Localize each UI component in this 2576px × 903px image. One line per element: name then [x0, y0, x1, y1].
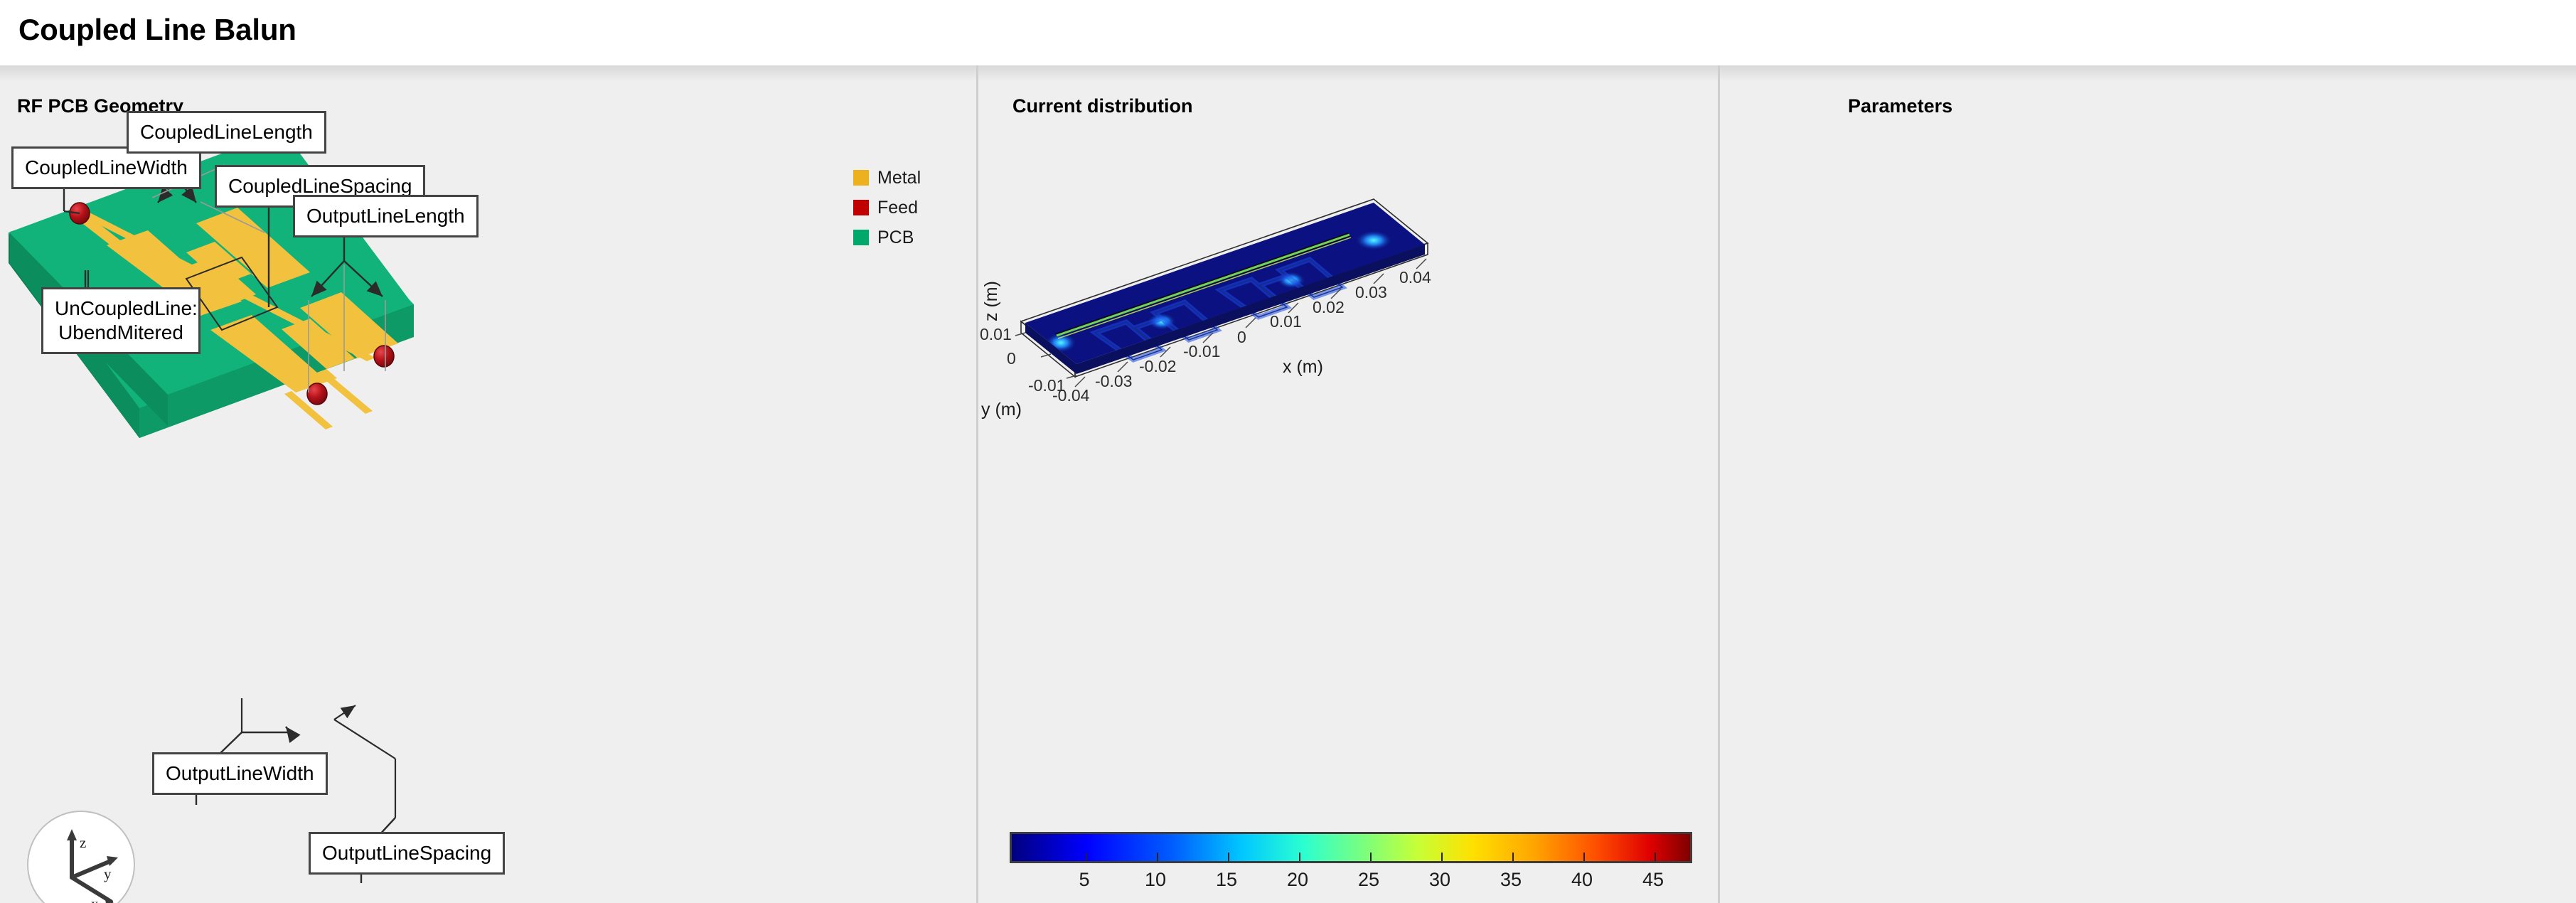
x-tick-0.04: 0.04	[1399, 268, 1431, 287]
callout-coupled-line-length[interactable]: CoupledLineLength	[127, 111, 326, 154]
cb-tick-45	[1655, 853, 1656, 861]
legend-label-metal: Metal	[877, 168, 921, 188]
pcb-swatch	[853, 230, 869, 245]
y-tick-0: 0	[1007, 349, 1016, 368]
panel-parameters: Parameters 0 -5 -10 -15 -20 -25 0.5 1 1.…	[1718, 65, 2576, 903]
cb-label-15: 15	[1216, 869, 1237, 891]
y-tick-0.01: 0.01	[980, 325, 1012, 343]
callout-output-line-spacing[interactable]: OutputLineSpacing	[309, 832, 505, 875]
x-tick--0.01: -0.01	[1183, 342, 1220, 360]
cb-label-25: 25	[1358, 869, 1379, 891]
callout-uncoupled-line[interactable]: UnCoupledLine: UbendMitered	[41, 287, 201, 354]
feed-swatch	[853, 200, 869, 215]
axis-triad-icon: z y x	[28, 812, 137, 903]
cb-tick-15	[1228, 853, 1229, 861]
panels-row: RF PCB Geometry	[0, 65, 2576, 903]
svg-text:x: x	[91, 895, 99, 903]
feed-port-3	[307, 383, 327, 405]
cb-label-20: 20	[1287, 869, 1308, 891]
current-distribution-3d-plot[interactable]: -0.04 -0.03 -0.02 -0.01 0 0.01 0.02 0.03…	[978, 108, 1720, 819]
cb-label-10: 10	[1145, 869, 1166, 891]
page-title: Coupled Line Balun	[18, 13, 296, 47]
feed-port-2	[374, 346, 394, 367]
cb-tick-25	[1370, 853, 1372, 861]
callout-output-line-width[interactable]: OutputLineWidth	[152, 752, 328, 795]
cb-tick-40	[1583, 853, 1585, 861]
cb-label-45: 45	[1642, 869, 1664, 891]
svg-text:y: y	[104, 865, 112, 882]
x-tick--0.02: -0.02	[1139, 357, 1176, 375]
title-bar: Coupled Line Balun	[0, 0, 2576, 65]
svg-text:z: z	[80, 834, 86, 851]
application-window: Coupled Line Balun RF PCB Geometry	[0, 0, 2576, 903]
panel-current-distribution: Current distribution	[976, 65, 1718, 903]
pcb-3d-illustration	[0, 65, 976, 903]
colorbar-gradient	[1010, 832, 1692, 863]
cb-tick-30	[1441, 853, 1443, 861]
cb-tick-35	[1512, 853, 1514, 861]
cb-tick-5	[1086, 853, 1087, 861]
axis-triad-widget[interactable]: z y x	[27, 811, 135, 903]
legend-label-pcb: PCB	[877, 228, 914, 248]
legend-item-pcb: PCB	[853, 225, 921, 250]
x-tick-0.01: 0.01	[1270, 312, 1302, 331]
cb-label-30: 30	[1429, 869, 1450, 891]
legend-label-feed: Feed	[877, 198, 918, 218]
x-tick--0.03: -0.03	[1095, 372, 1132, 390]
cb-label-35: 35	[1500, 869, 1522, 891]
legend-item-feed: Feed	[853, 195, 921, 220]
panel-rf-pcb-geometry: RF PCB Geometry	[0, 65, 976, 903]
legend-item-metal: Metal	[853, 165, 921, 191]
x-tick-0.02: 0.02	[1313, 298, 1345, 316]
cb-tick-10	[1157, 853, 1158, 861]
z-axis-label: z (m)	[981, 281, 1001, 321]
x-tick-0: 0	[1237, 328, 1246, 346]
cb-label-40: 40	[1571, 869, 1593, 891]
x-axis-label: x (m)	[1283, 357, 1323, 377]
cb-tick-20	[1299, 853, 1300, 861]
callout-output-line-length[interactable]: OutputLineLength	[293, 195, 479, 237]
hotspot-port2	[1355, 230, 1392, 250]
y-axis-label: y (m)	[981, 400, 1022, 420]
x-tick-0.03: 0.03	[1355, 283, 1387, 301]
parameters-panel-title: Parameters	[1848, 95, 1952, 117]
geometry-legend: Metal Feed PCB	[853, 165, 921, 255]
metal-swatch	[853, 170, 869, 186]
y-tick--0.01: -0.01	[1028, 376, 1065, 395]
cb-label-5: 5	[1079, 869, 1089, 891]
colorbar-widget: 5 10 15 20 25 30 35 40 45 A/m	[1010, 832, 1692, 863]
